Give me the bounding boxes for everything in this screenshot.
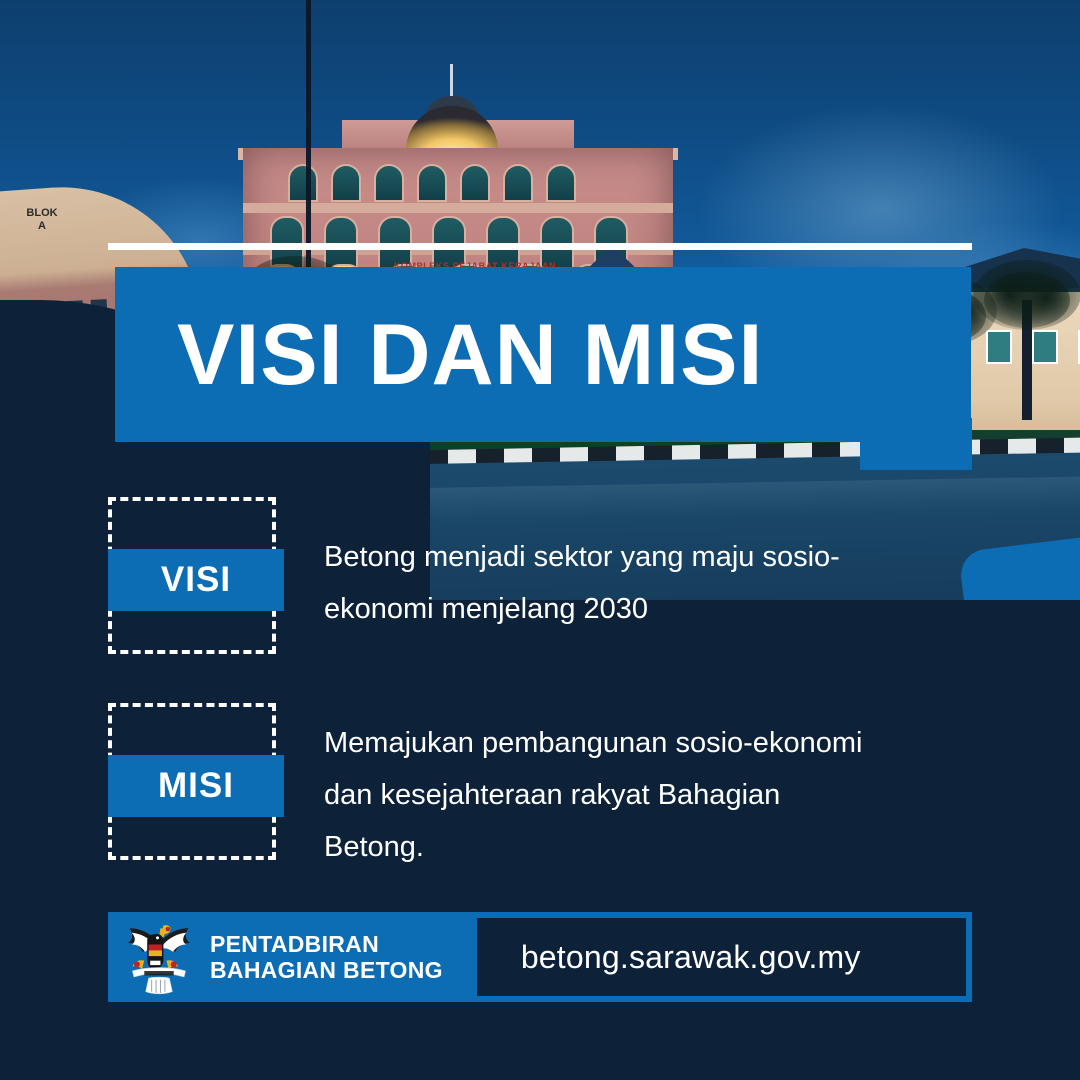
header-divider-rule xyxy=(108,243,972,250)
visi-tag-frame: VISI xyxy=(108,497,276,654)
misi-body-text: Memajukan pembangunan sosio-ekonomi dan … xyxy=(324,703,884,873)
brand-lockup: PENTADBIRAN BAHAGIAN BETONG xyxy=(114,918,443,996)
visi-tag-label: VISI xyxy=(108,549,284,611)
brand-line-1: PENTADBIRAN xyxy=(210,931,443,957)
blok-a-line2: A xyxy=(22,220,62,233)
brand-text: PENTADBIRAN BAHAGIAN BETONG xyxy=(210,931,443,983)
section-visi: VISI Betong menjadi sektor yang maju sos… xyxy=(108,497,884,654)
dome-spire xyxy=(450,64,453,100)
section-misi: MISI Memajukan pembangunan sosio-ekonomi… xyxy=(108,703,884,873)
website-url[interactable]: betong.sarawak.gov.my xyxy=(521,939,861,976)
poster-canvas: BLOK A xyxy=(0,0,1080,1080)
footer-bar: PENTADBIRAN BAHAGIAN BETONG betong.saraw… xyxy=(108,912,972,1002)
building-window-row-top xyxy=(288,164,576,202)
sarawak-coat-of-arms-icon xyxy=(122,918,196,996)
misi-tag-frame: MISI xyxy=(108,703,276,860)
brand-line-2: BAHAGIAN BETONG xyxy=(210,957,443,983)
palm-tree xyxy=(1022,300,1032,420)
blok-a-label: BLOK A xyxy=(22,207,62,233)
website-url-box[interactable]: betong.sarawak.gov.my xyxy=(477,918,966,996)
blok-a-line1: BLOK xyxy=(22,207,62,220)
page-title: VISI DAN MISI xyxy=(115,312,763,398)
visi-body-text: Betong menjadi sektor yang maju sosio-ek… xyxy=(324,497,884,635)
title-banner: VISI DAN MISI xyxy=(115,267,971,442)
misi-tag-label: MISI xyxy=(108,755,284,817)
right-building-windows xyxy=(986,330,1080,364)
